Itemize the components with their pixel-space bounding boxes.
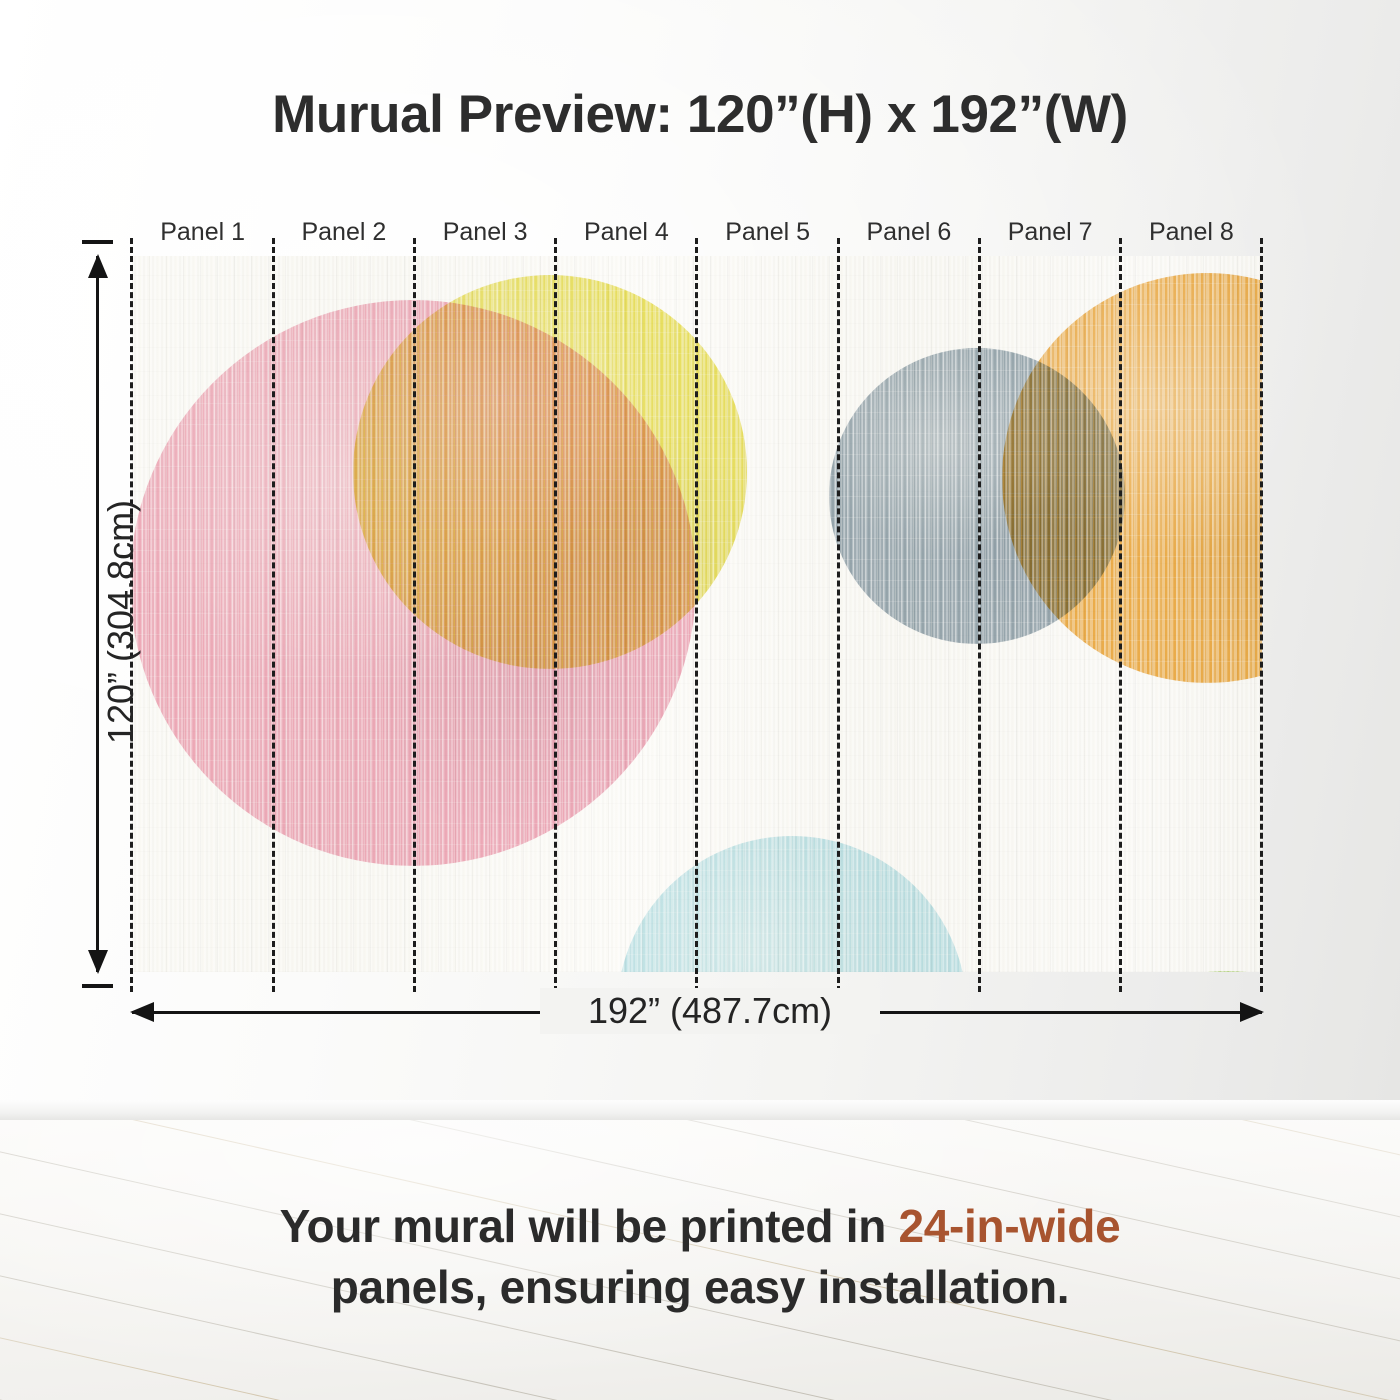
green-circle bbox=[1037, 971, 1262, 972]
panel-divider-5 bbox=[837, 238, 840, 992]
width-dimension-label: 192” (487.7cm) bbox=[540, 988, 880, 1034]
panel-divider-3 bbox=[554, 238, 557, 992]
height-dimension-arrow: 120” (304.8cm) bbox=[96, 256, 100, 972]
panel-divider-4 bbox=[695, 238, 698, 992]
footer-caption: Your mural will be printed in 24-in-wide… bbox=[0, 1196, 1400, 1317]
caption-line1-before: Your mural will be printed in bbox=[280, 1200, 899, 1252]
panel-divider-2 bbox=[413, 238, 416, 992]
height-dimension-label: 120” (304.8cm) bbox=[100, 362, 142, 882]
panel-label-1: Panel 1 bbox=[132, 218, 273, 247]
caption-highlight: 24-in-wide bbox=[898, 1200, 1120, 1252]
panel-divider-7 bbox=[1119, 238, 1122, 992]
height-tick-bottom bbox=[82, 984, 113, 988]
height-arrow-line bbox=[96, 256, 99, 972]
mural-preview-screenshot: Murual Preview: 120”(H) x 192”(W) Panel … bbox=[0, 0, 1400, 1400]
baseboard bbox=[0, 1100, 1400, 1122]
panel-label-6: Panel 6 bbox=[838, 218, 979, 247]
panel-label-7: Panel 7 bbox=[980, 218, 1121, 247]
panel-label-8: Panel 8 bbox=[1121, 218, 1262, 247]
height-arrow-head-up bbox=[88, 254, 108, 278]
panel-label-3: Panel 3 bbox=[415, 218, 556, 247]
floor-plank bbox=[0, 1372, 1400, 1400]
panel-label-4: Panel 4 bbox=[556, 218, 697, 247]
height-tick-top bbox=[82, 240, 113, 244]
panel-divider-6 bbox=[978, 238, 981, 992]
height-arrow-head-down bbox=[88, 950, 108, 974]
mural-edge-guide bbox=[1260, 238, 1263, 992]
caption-line2: panels, ensuring easy installation. bbox=[331, 1261, 1070, 1313]
green-circle-texture bbox=[1037, 971, 1262, 972]
cyan-circle bbox=[617, 836, 967, 972]
cyan-circle-texture bbox=[617, 836, 967, 972]
width-arrow-head-right bbox=[1240, 1002, 1264, 1022]
width-arrow-head-left bbox=[130, 1002, 154, 1022]
panel-label-2: Panel 2 bbox=[273, 218, 414, 247]
panel-label-5: Panel 5 bbox=[697, 218, 838, 247]
panel-divider-1 bbox=[272, 238, 275, 992]
page-title: Murual Preview: 120”(H) x 192”(W) bbox=[0, 84, 1400, 145]
